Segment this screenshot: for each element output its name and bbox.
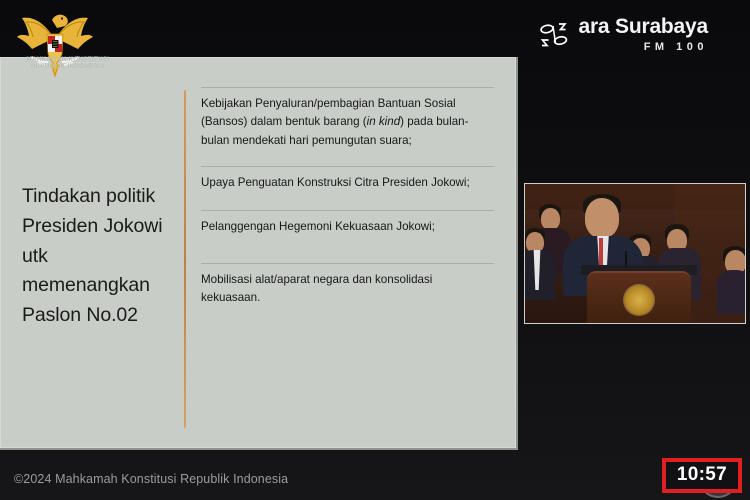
vertical-divider (184, 90, 186, 428)
presentation-slide: Tindakan politik Presiden Jokowi utk mem… (0, 57, 518, 450)
garuda-seal-icon (624, 285, 654, 315)
institution-caption: MAHKAMAH KONSTITUSI REPUBLIK INDONESIA (8, 57, 128, 71)
station-brand: ara Surabaya FM 100 (539, 16, 708, 53)
suara-surabaya-logo-icon (539, 20, 569, 50)
bullet-citra-text: Upaya Penguatan Konstruksi Citra Preside… (201, 176, 470, 189)
bullet-bansos: Kebijakan Penyaluran/pembagian Bantuan S… (201, 87, 494, 162)
clock-time: 10:57 (677, 464, 727, 486)
microphone-icon (625, 251, 627, 267)
station-name: ara Surabaya (578, 16, 708, 37)
station-frequency: FM 100 (578, 41, 708, 53)
bullet-citra: Upaya Penguatan Konstruksi Citra Preside… (201, 166, 494, 204)
bullet-hegemoni-text: Pelanggengan Hegemoni Kekuasaan Jokowi; (201, 220, 435, 233)
copyright-text: ©2024 Mahkamah Konstitusi Republik Indon… (14, 472, 288, 486)
bullet-mobilisasi: Mobilisasi alat/aparat negara dan konsol… (201, 263, 494, 320)
video-inset-courtroom[interactable] (524, 183, 746, 324)
bullet-hegemoni: Pelanggengan Hegemoni Kekuasaan Jokowi; (201, 210, 494, 248)
slide-title: Tindakan politik Presiden Jokowi utk mem… (22, 182, 180, 330)
bullet-bansos-italic: in kind (367, 115, 401, 128)
slide-bullet-column: Kebijakan Penyaluran/pembagian Bantuan S… (186, 57, 516, 448)
institution-line-2: REPUBLIK INDONESIA (8, 64, 128, 71)
broadcast-stage: MAHKAMAH KONSTITUSI REPUBLIK INDONESIA T… (0, 0, 750, 500)
podium (587, 271, 691, 323)
clock-badge: 10:57 (662, 458, 742, 493)
slide-title-column: Tindakan politik Presiden Jokowi utk mem… (0, 57, 186, 448)
station-brand-text: ara Surabaya FM 100 (578, 16, 708, 53)
bullet-mobilisasi-text: Mobilisasi alat/aparat negara dan konsol… (201, 273, 432, 304)
